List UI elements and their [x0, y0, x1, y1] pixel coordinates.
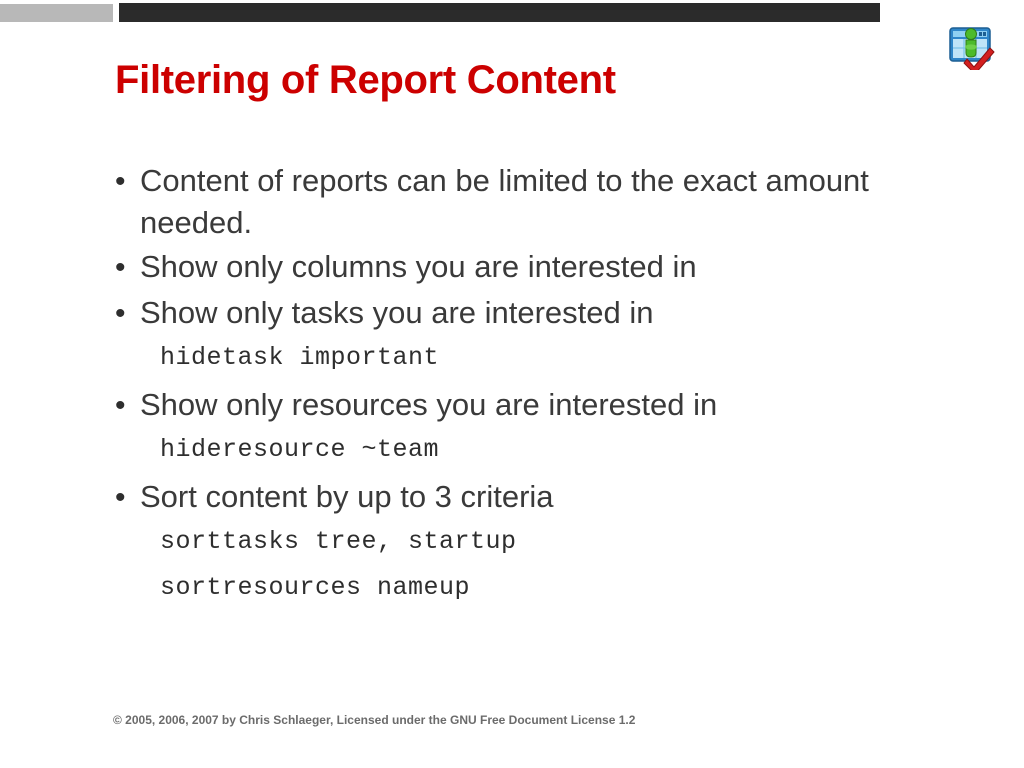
list-item-label: Sort content by up to 3 criteria: [140, 476, 970, 518]
list-item: • Show only columns you are interested i…: [110, 246, 970, 290]
bullet-icon: •: [110, 292, 140, 336]
list-item: • Sort content by up to 3 criteria: [110, 476, 970, 520]
list-item: • Content of reports can be limited to t…: [110, 160, 970, 244]
list-item: • Show only tasks you are interested in: [110, 292, 970, 336]
bullet-icon: •: [110, 476, 140, 520]
code-snippet: sorttasks tree, startup: [160, 522, 970, 562]
footer-copyright: © 2005, 2006, 2007 by Chris Schlaeger, L…: [113, 713, 635, 727]
page-title: Filtering of Report Content: [115, 58, 616, 103]
bullet-icon: •: [110, 384, 140, 428]
code-snippet: sortresources nameup: [160, 568, 970, 608]
code-snippet: hideresource ~team: [160, 430, 970, 470]
code-snippet: hidetask important: [160, 338, 970, 378]
list-item-label: Show only tasks you are interested in: [140, 292, 970, 334]
list-item-label: Content of reports can be limited to the…: [140, 160, 970, 244]
taskjuggler-logo-icon: [949, 26, 997, 70]
header-bar-dark: [119, 3, 880, 22]
slide-content: • Content of reports can be limited to t…: [110, 160, 970, 614]
list-item-label: Show only columns you are interested in: [140, 246, 970, 288]
list-item-label: Show only resources you are interested i…: [140, 384, 970, 426]
header-bar-gray: [0, 4, 113, 22]
slide: Filtering of Report Content • Content of…: [0, 0, 1024, 768]
bullet-icon: •: [110, 160, 140, 204]
list-item: • Show only resources you are interested…: [110, 384, 970, 428]
bullet-icon: •: [110, 246, 140, 290]
